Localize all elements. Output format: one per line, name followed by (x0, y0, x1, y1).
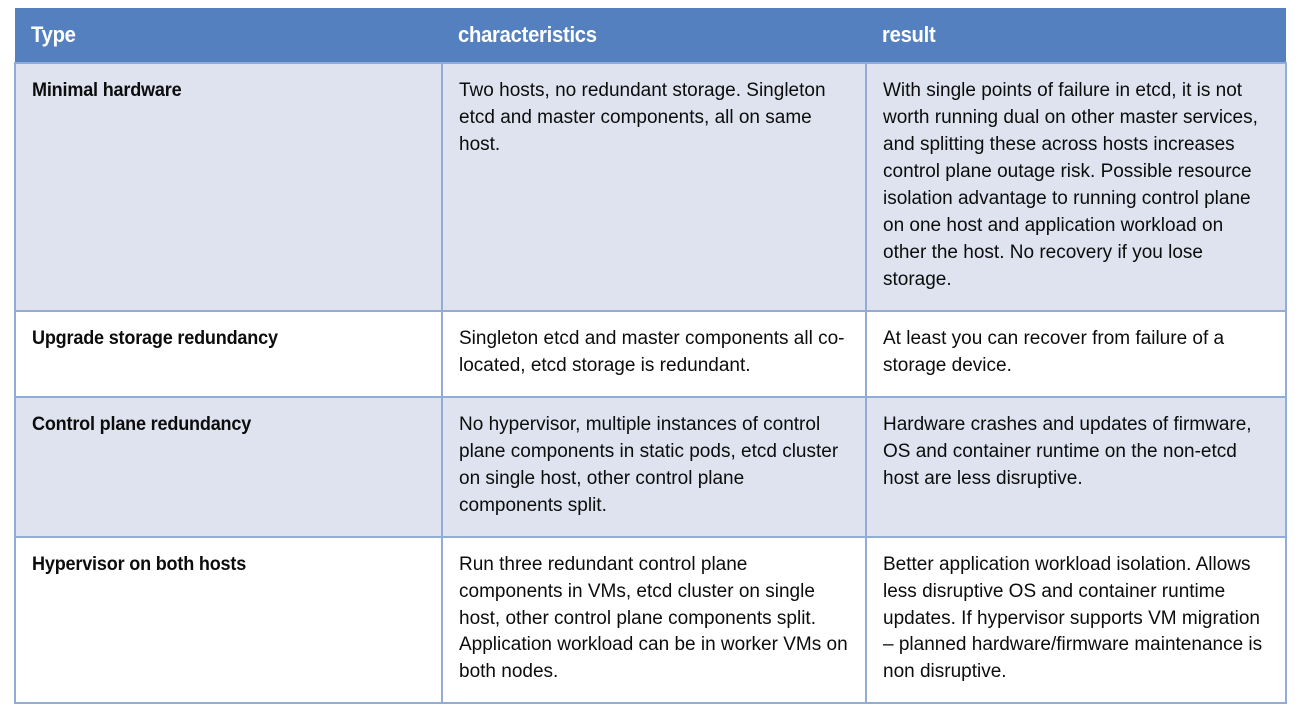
header-row: Type characteristics result (15, 8, 1286, 63)
cell-characteristics-text: Run three redundant control plane compon… (459, 554, 848, 683)
table-row: Control plane redundancy No hypervisor, … (15, 397, 1286, 537)
cell-characteristics: Two hosts, no redundant storage. Singlet… (442, 63, 866, 311)
cell-characteristics: Singleton etcd and master components all… (442, 311, 866, 397)
cell-characteristics-text: Two hosts, no redundant storage. Singlet… (459, 80, 826, 155)
cell-result-text: With single points of failure in etcd, i… (883, 80, 1258, 290)
cell-type-label: Hypervisor on both hosts (32, 552, 246, 579)
cell-result-text: At least you can recover from failure of… (883, 328, 1224, 376)
cell-result: With single points of failure in etcd, i… (866, 63, 1286, 311)
column-header-result-label: result (882, 22, 1239, 48)
cell-characteristics: No hypervisor, multiple instances of con… (442, 397, 866, 537)
cell-type: Minimal hardware (15, 63, 442, 311)
cell-type: Upgrade storage redundancy (15, 311, 442, 397)
cell-type-label: Minimal hardware (32, 78, 181, 105)
table-body: Minimal hardware Two hosts, no redundant… (15, 63, 1286, 703)
cell-characteristics: Run three redundant control plane compon… (442, 537, 866, 704)
column-header-characteristics: characteristics (442, 8, 866, 63)
table-row: Hypervisor on both hosts Run three redun… (15, 537, 1286, 704)
cell-type: Control plane redundancy (15, 397, 442, 537)
table-header: Type characteristics result (15, 8, 1286, 63)
page-root: Type characteristics result Minimal hard… (0, 0, 1302, 708)
cell-type-label: Upgrade storage redundancy (32, 326, 278, 353)
cell-result: At least you can recover from failure of… (866, 311, 1286, 397)
table-container: Type characteristics result Minimal hard… (14, 8, 1285, 704)
cell-type-label: Control plane redundancy (32, 412, 251, 439)
column-header-result: result (866, 8, 1286, 63)
cell-characteristics-text: Singleton etcd and master components all… (459, 328, 845, 376)
cell-result: Hardware crashes and updates of firmware… (866, 397, 1286, 537)
cell-result-text: Better application workload isolation. A… (883, 554, 1262, 683)
cell-result: Better application workload isolation. A… (866, 537, 1286, 704)
cell-result-text: Hardware crashes and updates of firmware… (883, 414, 1252, 489)
availability-options-table: Type characteristics result Minimal hard… (14, 8, 1287, 704)
column-header-type: Type (15, 8, 442, 63)
column-header-characteristics-label: characteristics (458, 22, 819, 48)
column-header-type-label: Type (31, 22, 394, 48)
table-row: Minimal hardware Two hosts, no redundant… (15, 63, 1286, 311)
table-row: Upgrade storage redundancy Singleton etc… (15, 311, 1286, 397)
cell-type: Hypervisor on both hosts (15, 537, 442, 704)
cell-characteristics-text: No hypervisor, multiple instances of con… (459, 414, 838, 516)
